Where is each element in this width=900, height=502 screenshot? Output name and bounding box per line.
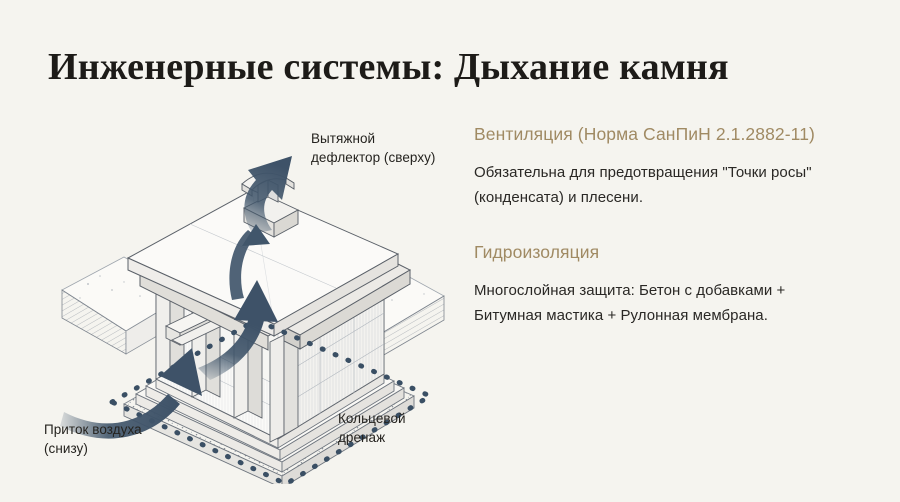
- section-waterproofing: Гидроизоляция Многослойная защита: Бетон…: [474, 240, 874, 328]
- section-ventilation-body-line2: (конденсата) и плесени.: [474, 185, 874, 210]
- label-intake-line1: Приток воздуха: [44, 420, 142, 439]
- section-ventilation-heading: Вентиляция (Норма СанПиН 2.1.2882-11): [474, 122, 874, 146]
- section-waterproofing-body-line1: Многослойная защита: Бетон с добавками +: [474, 278, 874, 303]
- label-intake-line2: (снизу): [44, 439, 142, 458]
- label-deflector: Вытяжной дефлектор (сверху): [311, 129, 435, 167]
- slide-root: Инженерные системы: Дыхание камня: [0, 0, 900, 502]
- content-column: Вентиляция (Норма СанПиН 2.1.2882-11) Об…: [474, 122, 874, 328]
- section-waterproofing-heading: Гидроизоляция: [474, 240, 874, 264]
- section-ventilation-body: Обязательна для предотвращения "Точки ро…: [474, 160, 874, 210]
- label-deflector-line2: дефлектор (сверху): [311, 148, 435, 167]
- page-title: Инженерные системы: Дыхание камня: [48, 44, 729, 90]
- section-waterproofing-body-line2: Битумная мастика + Рулонная мембрана.: [474, 303, 874, 328]
- label-deflector-line1: Вытяжной: [311, 129, 435, 148]
- section-ventilation-body-line1: Обязательна для предотвращения "Точки ро…: [474, 160, 874, 185]
- label-drainage-line1: Кольцевой: [338, 409, 406, 428]
- label-drainage-line2: дренаж: [338, 428, 406, 447]
- section-ventilation: Вентиляция (Норма СанПиН 2.1.2882-11) Об…: [474, 122, 874, 210]
- section-waterproofing-body: Многослойная защита: Бетон с добавками +…: [474, 278, 874, 328]
- label-ring-drainage: Кольцевой дренаж: [338, 409, 406, 447]
- label-air-intake: Приток воздуха (снизу): [44, 420, 142, 458]
